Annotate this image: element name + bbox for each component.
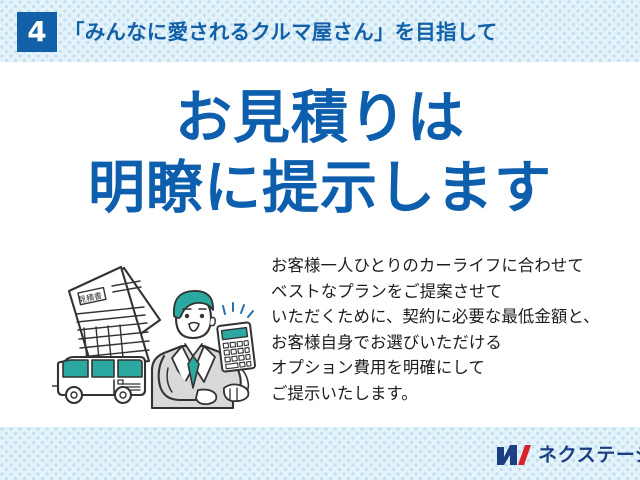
nextage-n-logo-icon bbox=[497, 443, 531, 467]
headline-line-1: お見積りは bbox=[0, 86, 640, 150]
illustration: 見積書 bbox=[52, 258, 270, 423]
body-copy-line: お客様一人ひとりのカーライフに合わせて bbox=[271, 253, 631, 279]
salesman-quote-van-illustration: 見積書 bbox=[52, 258, 270, 423]
body-copy-line: オプション費用を明確にして bbox=[271, 355, 631, 381]
body-copy: お客様一人ひとりのカーライフに合わせて ベストなプランをご提案させて いただくた… bbox=[271, 253, 631, 406]
content-panel: お見積りは 明瞭に提示します お客様一人ひとりのカーライフに合わせて ベストなプ… bbox=[0, 62, 640, 427]
body-copy-line: いただくために、契約に必要な最低金額と、 bbox=[271, 304, 631, 330]
promo-slide: 4 「みんなに愛されるクルマ屋さん」を目指して お見積りは 明瞭に提示します お… bbox=[0, 0, 640, 480]
headline-line-2: 明瞭に提示します bbox=[0, 156, 640, 220]
body-copy-line: ベストなプランをご提案させて bbox=[271, 279, 631, 305]
body-copy-line: ご提示いたします。 bbox=[271, 381, 631, 407]
brand-logo: ネクステージ bbox=[497, 441, 640, 469]
section-number-badge: 4 bbox=[17, 12, 57, 52]
headline: お見積りは 明瞭に提示します bbox=[0, 86, 640, 220]
body-copy-line: お客様自身でお選びいただける bbox=[271, 330, 631, 356]
header-title: 「みんなに愛されるクルマ屋さん」を目指して bbox=[64, 17, 497, 47]
brand-name: ネクステージ bbox=[538, 443, 640, 467]
